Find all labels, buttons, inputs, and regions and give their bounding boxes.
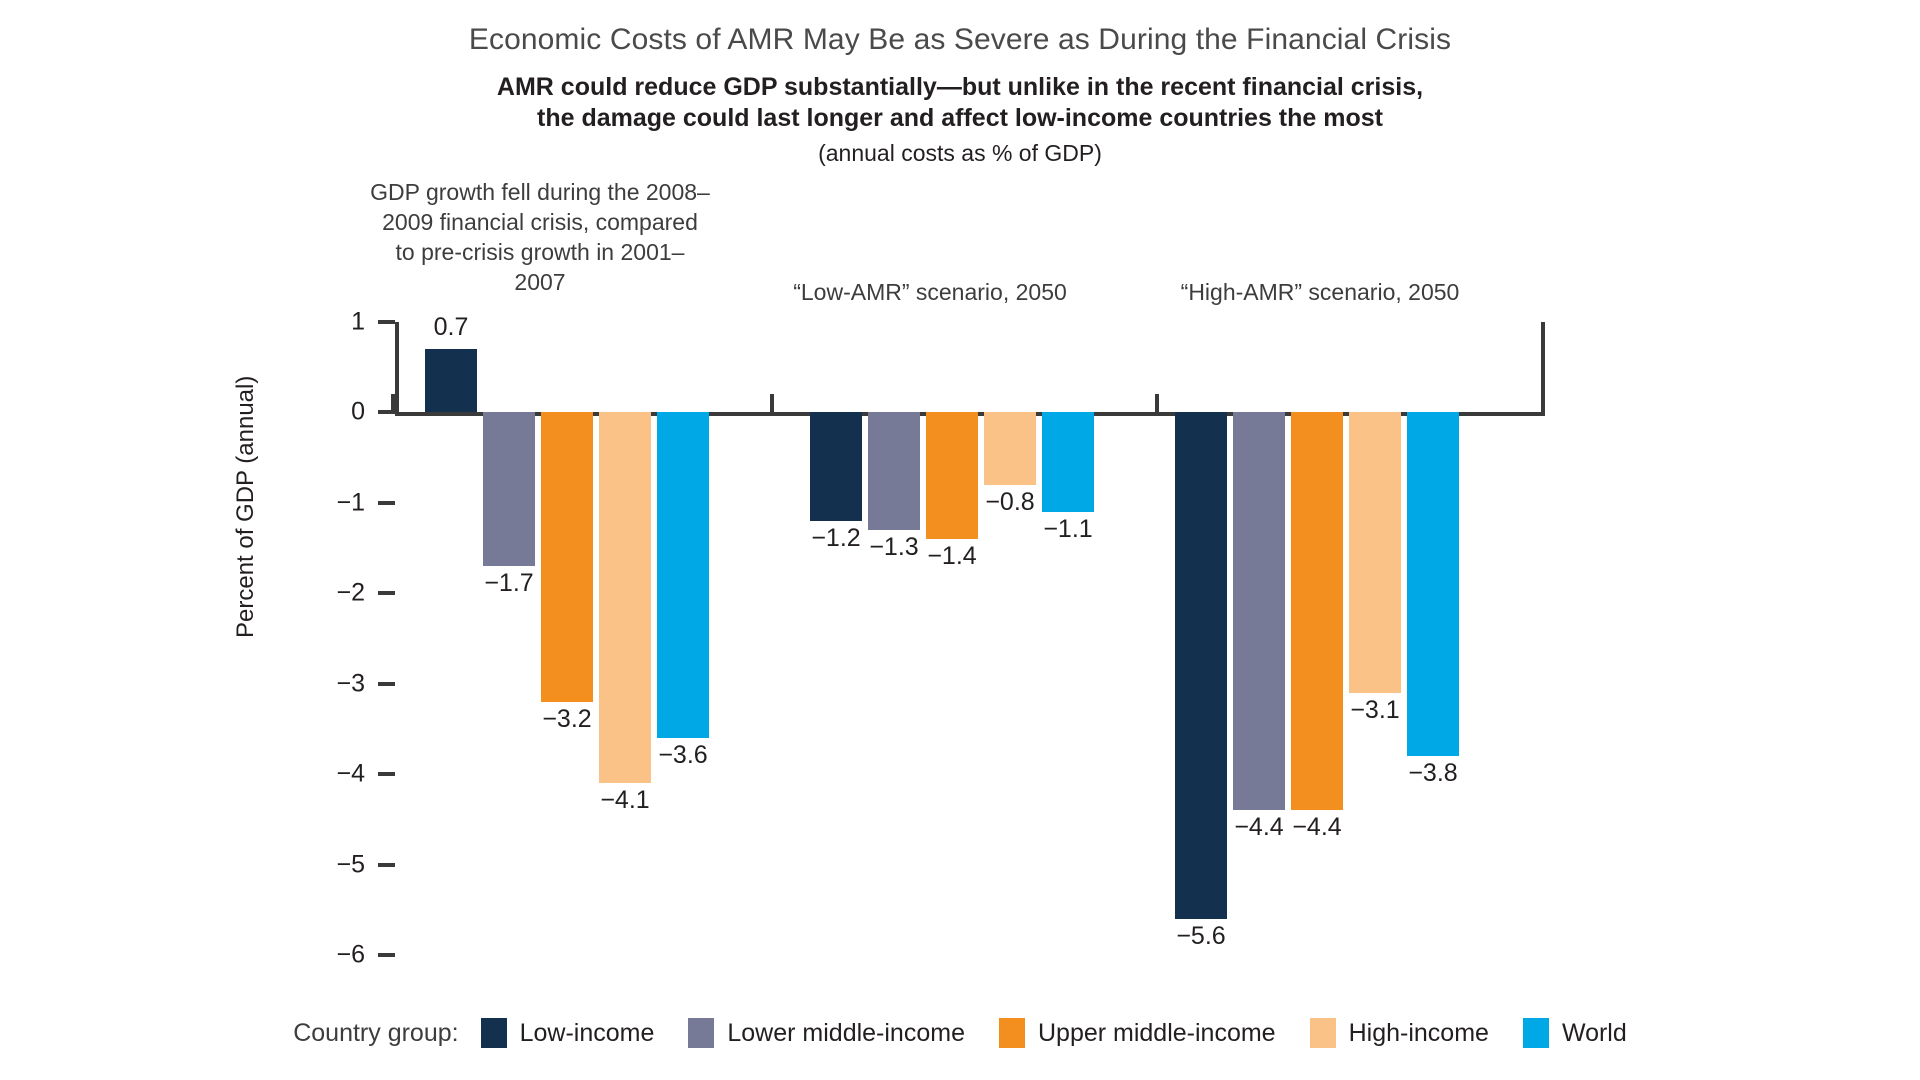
bar-value-label: −3.1 — [1350, 696, 1399, 725]
subtitle-line-1: AMR could reduce GDP substantially—but u… — [0, 72, 1920, 103]
bar-group: 0.7−1.7−3.2−4.1−3.6 — [425, 322, 709, 955]
legend-title: Country group: — [293, 1019, 458, 1048]
bar-value-label: 0.7 — [434, 313, 469, 342]
y-axis-tick-label: −4 — [336, 760, 365, 789]
y-axis: 10−1−2−3−4−5−6 — [300, 322, 395, 955]
title-block: Economic Costs of AMR May Be as Severe a… — [0, 22, 1920, 57]
y-axis-tick-label: −5 — [336, 850, 365, 879]
legend-swatch-icon — [688, 1018, 714, 1048]
bar-value-label: −1.4 — [927, 542, 976, 571]
bar-group: −5.6−4.4−4.4−3.1−3.8 — [1175, 322, 1459, 955]
group-separator-tick — [391, 394, 395, 412]
legend-label: High-income — [1349, 1019, 1489, 1048]
bar[interactable] — [1175, 412, 1227, 918]
bar[interactable] — [425, 349, 477, 412]
legend-item[interactable]: Low-income — [481, 1018, 655, 1048]
bar-value-label: −3.2 — [542, 705, 591, 734]
bar-value-label: −3.6 — [658, 741, 707, 770]
bar-slot: −5.6 — [1175, 322, 1227, 955]
legend-swatch-icon — [1523, 1018, 1549, 1048]
group-separator-tick — [1155, 394, 1159, 412]
bar-slot: −4.4 — [1291, 322, 1343, 955]
y-axis-tick-mark — [378, 591, 395, 595]
subtitle-line-2: the damage could last longer and affect … — [0, 103, 1920, 134]
legend-item[interactable]: High-income — [1310, 1018, 1489, 1048]
y-axis-tick-mark — [378, 863, 395, 867]
legend-label: Lower middle-income — [727, 1019, 965, 1048]
y-axis-tick-mark — [378, 682, 395, 686]
legend-item[interactable]: World — [1523, 1018, 1627, 1048]
axis-spine-left — [395, 322, 399, 414]
bar-slot: −1.1 — [1042, 322, 1094, 955]
units-note: (annual costs as % of GDP) — [0, 140, 1920, 167]
bar-slot: −1.2 — [810, 322, 862, 955]
y-axis-tick-label: −6 — [336, 941, 365, 970]
subtitle-block: AMR could reduce GDP substantially—but u… — [0, 72, 1920, 133]
bar-slot: −1.3 — [868, 322, 920, 955]
bar[interactable] — [1407, 412, 1459, 756]
legend: Country group: Low-incomeLower middle-in… — [0, 1018, 1920, 1048]
group-separator-tick — [770, 394, 774, 412]
bar-slot: −3.8 — [1407, 322, 1459, 955]
bar[interactable] — [1042, 412, 1094, 511]
legend-item[interactable]: Lower middle-income — [688, 1018, 965, 1048]
y-axis-tick-label: −3 — [336, 669, 365, 698]
bar-value-label: −1.3 — [869, 533, 918, 562]
bar-value-label: −0.8 — [985, 488, 1034, 517]
bar-value-label: −4.4 — [1234, 813, 1283, 842]
bar-value-label: −3.8 — [1408, 759, 1457, 788]
chart-figure: Economic Costs of AMR May Be as Severe a… — [0, 0, 1920, 1080]
y-axis-tick-label: 0 — [351, 398, 365, 427]
bar[interactable] — [483, 412, 535, 566]
y-axis-title: Percent of GDP (annual) — [232, 376, 260, 638]
bar[interactable] — [1349, 412, 1401, 692]
bar-value-label: −1.2 — [811, 524, 860, 553]
legend-label: World — [1562, 1019, 1627, 1048]
bar[interactable] — [541, 412, 593, 701]
panel-note-financial-crisis: GDP growth fell during the 2008–2009 fin… — [370, 178, 710, 298]
y-axis-tick-label: 1 — [351, 308, 365, 337]
page-title: Economic Costs of AMR May Be as Severe a… — [0, 22, 1920, 57]
bar[interactable] — [657, 412, 709, 738]
y-axis-tick-label: −1 — [336, 488, 365, 517]
bar[interactable] — [1233, 412, 1285, 810]
y-axis-tick-mark — [378, 953, 395, 957]
bar[interactable] — [1291, 412, 1343, 810]
bar-slot: −3.1 — [1349, 322, 1401, 955]
group-separator-tick — [1541, 394, 1545, 412]
panel-note-low-amr: “Low-AMR” scenario, 2050 — [760, 278, 1100, 308]
y-axis-tick-mark — [378, 320, 395, 324]
legend-label: Low-income — [520, 1019, 655, 1048]
bar[interactable] — [810, 412, 862, 521]
bar-slot: −4.1 — [599, 322, 651, 955]
bar-slot: −1.4 — [926, 322, 978, 955]
bar-slot: −4.4 — [1233, 322, 1285, 955]
legend-label: Upper middle-income — [1038, 1019, 1276, 1048]
bar[interactable] — [868, 412, 920, 530]
bar-slot: −3.2 — [541, 322, 593, 955]
y-axis-tick-label: −2 — [336, 579, 365, 608]
bar-slot: 0.7 — [425, 322, 477, 955]
bar[interactable] — [926, 412, 978, 539]
legend-item[interactable]: Upper middle-income — [999, 1018, 1276, 1048]
y-axis-tick-mark — [378, 501, 395, 505]
bar-value-label: −4.4 — [1292, 813, 1341, 842]
bar-slot: −3.6 — [657, 322, 709, 955]
bar-value-label: −1.1 — [1043, 515, 1092, 544]
panel-note-high-amr: “High-AMR” scenario, 2050 — [1140, 278, 1500, 308]
bar-group: −1.2−1.3−1.4−0.8−1.1 — [810, 322, 1094, 955]
plot-area: 0.7−1.7−3.2−4.1−3.6−1.2−1.3−1.4−0.8−1.1−… — [395, 322, 1545, 955]
bar-value-label: −4.1 — [600, 786, 649, 815]
bar-slot: −1.7 — [483, 322, 535, 955]
legend-swatch-icon — [999, 1018, 1025, 1048]
bar-value-label: −1.7 — [484, 569, 533, 598]
legend-swatch-icon — [481, 1018, 507, 1048]
y-axis-tick-mark — [378, 772, 395, 776]
bar[interactable] — [599, 412, 651, 783]
bar-value-label: −5.6 — [1176, 922, 1225, 951]
bar[interactable] — [984, 412, 1036, 484]
legend-swatch-icon — [1310, 1018, 1336, 1048]
bar-slot: −0.8 — [984, 322, 1036, 955]
